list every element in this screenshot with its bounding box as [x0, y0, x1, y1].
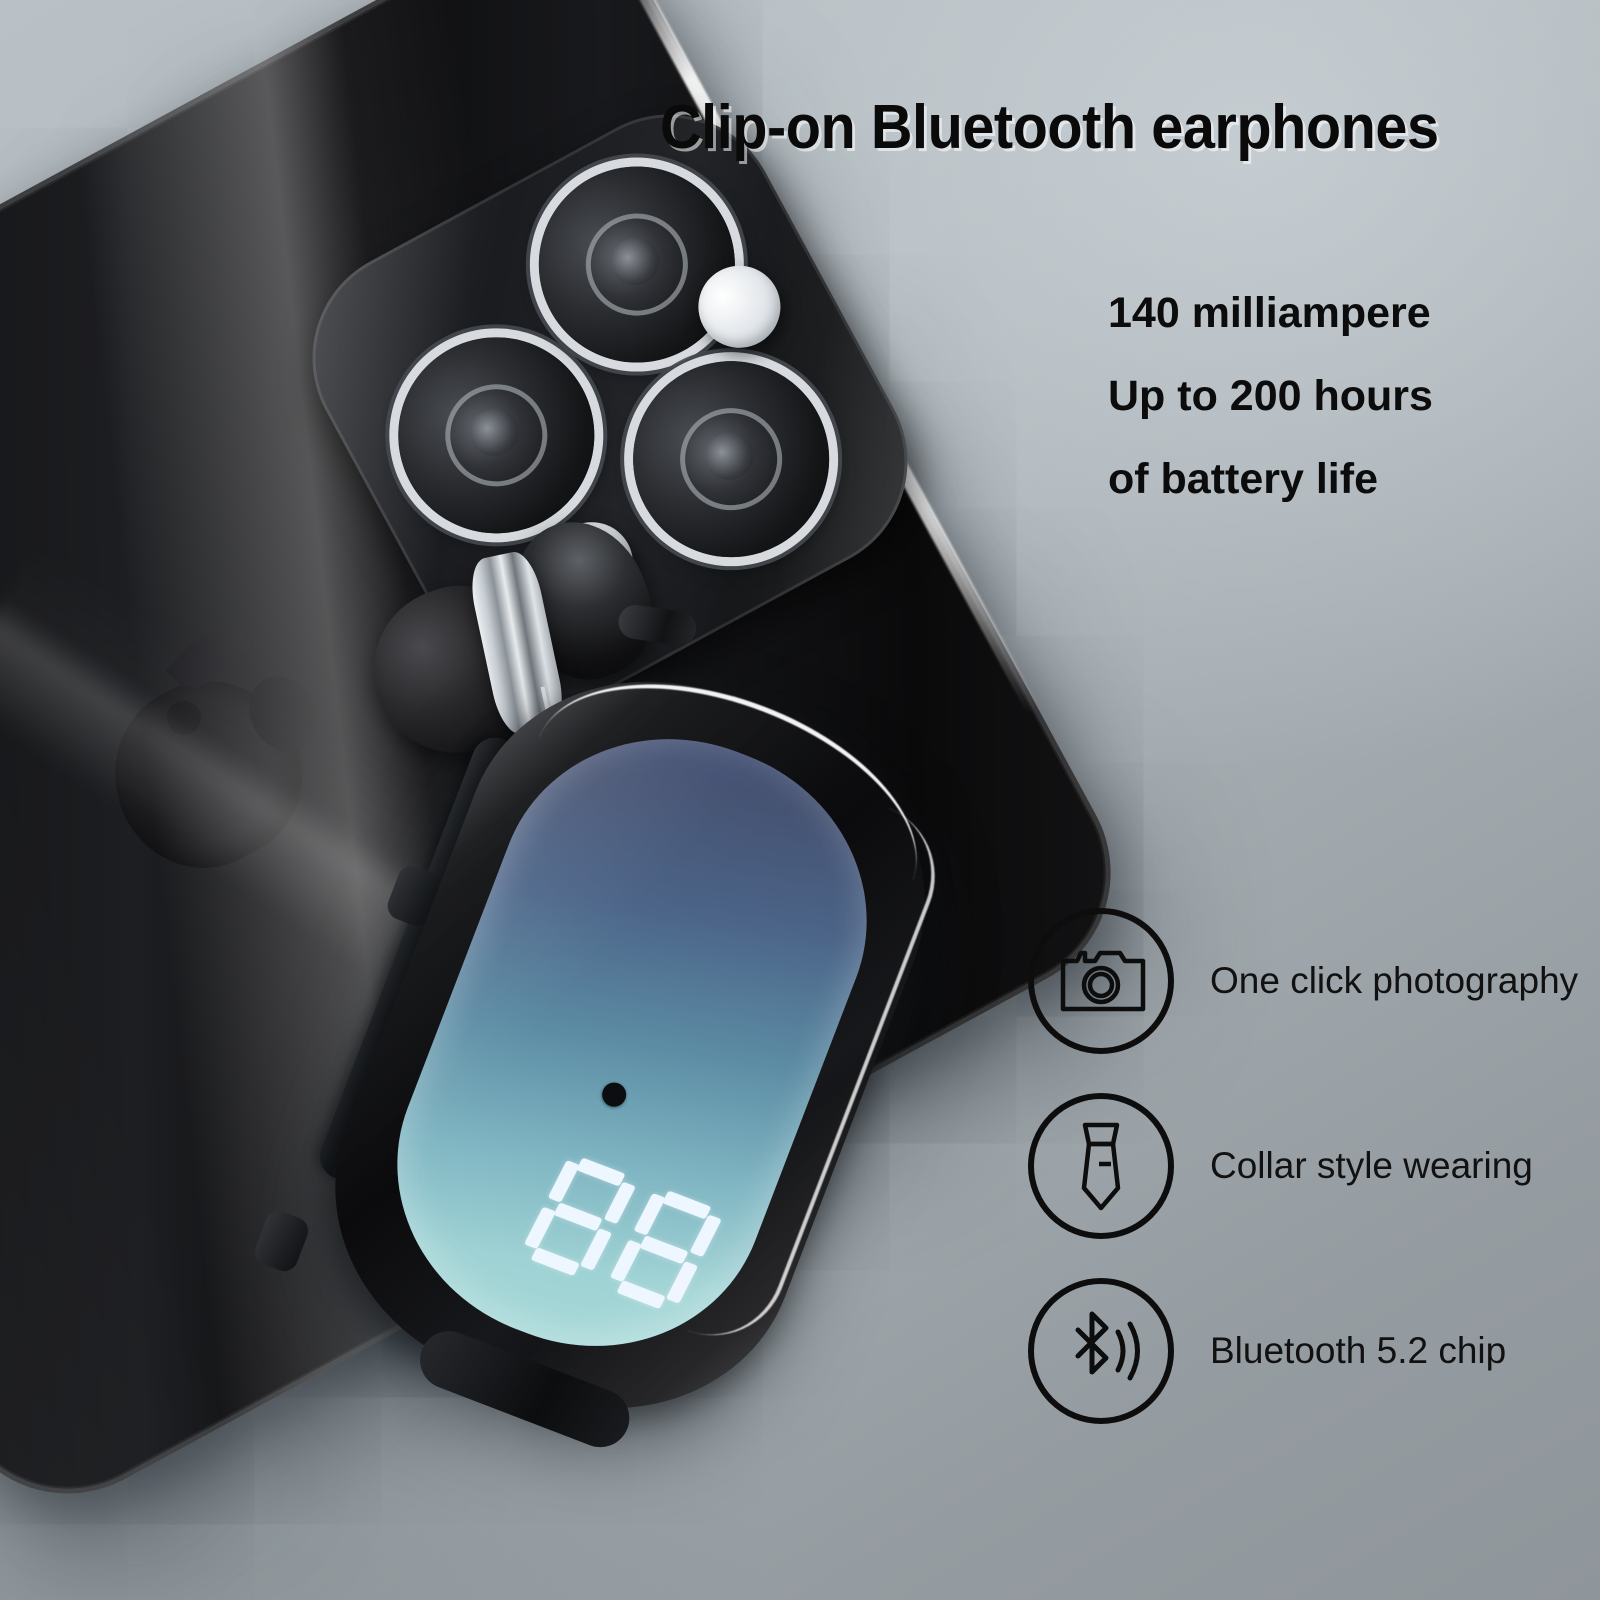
- feature-item-collar: Collar style wearing: [1028, 1073, 1588, 1258]
- page-title: Clip-on Bluetooth earphones: [660, 92, 1488, 163]
- necktie-icon: [1028, 1093, 1174, 1239]
- spec-line: of battery life: [1108, 458, 1578, 501]
- feature-list: One click photography Collar style weari…: [1028, 888, 1588, 1443]
- spec-line: 140 milliampere: [1108, 292, 1578, 335]
- feature-item-bluetooth: Bluetooth 5.2 chip: [1028, 1258, 1588, 1443]
- feature-label: One click photography: [1210, 960, 1578, 1002]
- spec-list: 140 milliampere Up to 200 hours of batte…: [1108, 292, 1578, 541]
- camera-icon: [1028, 908, 1174, 1054]
- feature-label: Bluetooth 5.2 chip: [1210, 1330, 1506, 1372]
- bluetooth-icon: [1028, 1278, 1174, 1424]
- product-marketing-image: Clip-on Bluetooth earphones 140 milliamp…: [0, 0, 1600, 1600]
- spec-line: Up to 200 hours: [1108, 375, 1578, 418]
- feature-item-photography: One click photography: [1028, 888, 1588, 1073]
- feature-label: Collar style wearing: [1210, 1145, 1533, 1187]
